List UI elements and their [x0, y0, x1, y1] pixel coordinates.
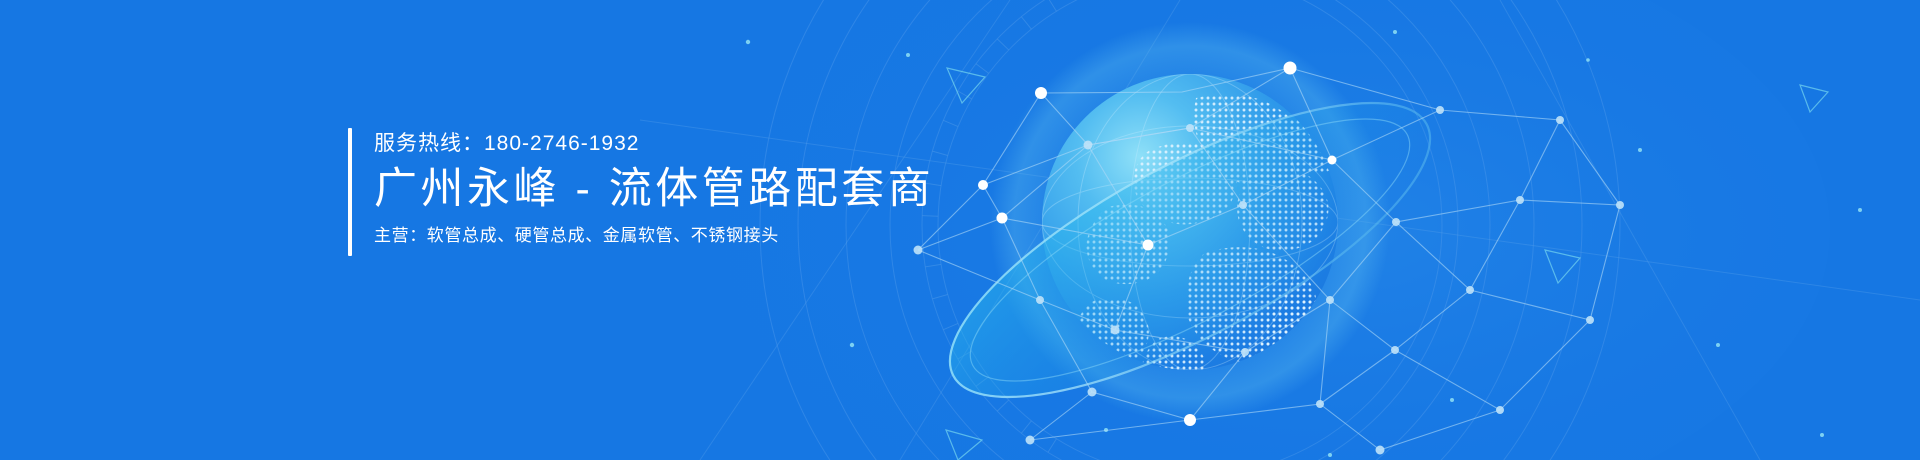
- promotional-banner: 服务热线：180-2746-1932 广州永峰 - 流体管路配套商 主营：软管总…: [0, 0, 1920, 460]
- accent-bar: [348, 128, 352, 256]
- headline-text-block: 服务热线：180-2746-1932 广州永峰 - 流体管路配套商 主营：软管总…: [348, 128, 988, 256]
- text-column: 服务热线：180-2746-1932 广州永峰 - 流体管路配套商 主营：软管总…: [374, 128, 934, 256]
- page-title: 广州永峰 - 流体管路配套商: [374, 164, 934, 214]
- product-subtitle: 主营：软管总成、硬管总成、金属软管、不锈钢接头: [374, 224, 934, 248]
- service-hotline: 服务热线：180-2746-1932: [374, 130, 934, 158]
